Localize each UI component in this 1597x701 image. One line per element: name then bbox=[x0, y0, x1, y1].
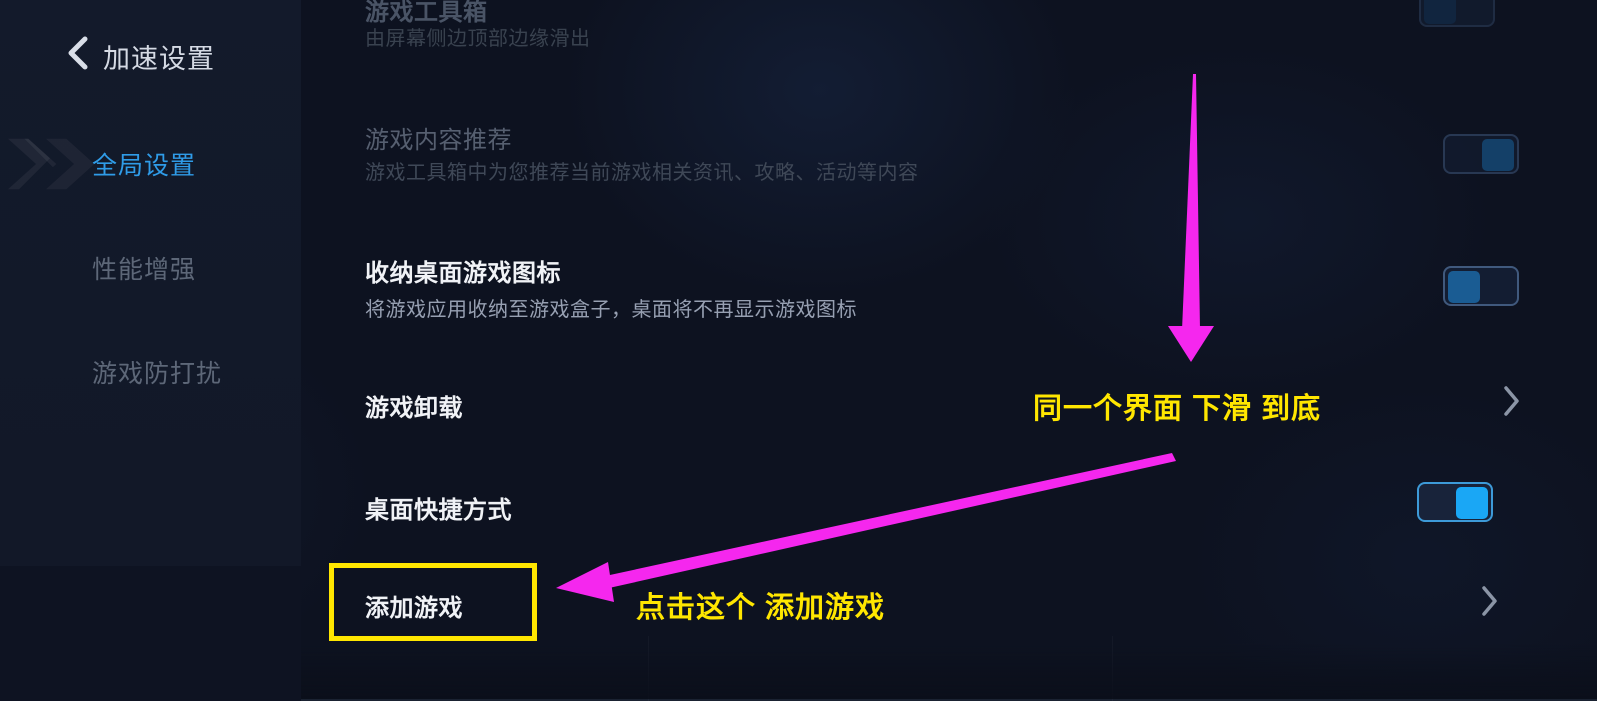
sidebar-item-label: 游戏防打扰 bbox=[92, 354, 222, 390]
toggle-knob bbox=[1448, 271, 1480, 303]
sidebar-item-label: 全局设置 bbox=[92, 146, 196, 182]
sidebar-nav: 全局设置 性能增强 游戏防打扰 bbox=[0, 112, 301, 424]
toggle-hide-desktop-icons[interactable] bbox=[1443, 266, 1519, 306]
annotation-scroll-hint: 同一个界面 下滑 到底 bbox=[1033, 385, 1321, 427]
row-title: 收纳桌面游戏图标 bbox=[365, 253, 561, 288]
toggle-knob bbox=[1456, 487, 1488, 519]
toggle-game-toolbox[interactable] bbox=[1419, 0, 1495, 27]
annotation-highlight-box bbox=[329, 563, 537, 641]
back-button[interactable] bbox=[63, 36, 93, 70]
sidebar-item-label: 性能增强 bbox=[92, 250, 196, 286]
page-title: 加速设置 bbox=[103, 37, 215, 76]
toggle-desktop-shortcut[interactable] bbox=[1417, 482, 1493, 522]
toggle-content-recommend[interactable] bbox=[1443, 134, 1519, 174]
row-title: 游戏卸载 bbox=[365, 388, 463, 423]
sidebar-item-performance-boost[interactable]: 性能增强 bbox=[0, 216, 301, 320]
sidebar-item-do-not-disturb[interactable]: 游戏防打扰 bbox=[0, 320, 301, 424]
game-accel-settings-screen: 加速设置 全局设置 性能增强 游戏防打扰 游戏工具箱 由屏幕侧边顶部边缘滑出 游… bbox=[0, 0, 1597, 701]
toggle-knob bbox=[1482, 139, 1514, 171]
row-subtitle: 游戏工具箱中为您推荐当前游戏相关资讯、攻略、活动等内容 bbox=[365, 156, 919, 185]
sidebar-item-global-settings[interactable]: 全局设置 bbox=[0, 112, 301, 216]
chevron-right-icon[interactable] bbox=[1501, 385, 1527, 421]
row-title: 桌面快捷方式 bbox=[365, 490, 512, 525]
screen-header: 加速设置 bbox=[0, 0, 301, 108]
row-subtitle: 将游戏应用收纳至游戏盒子，桌面将不再显示游戏图标 bbox=[365, 293, 857, 322]
toggle-knob bbox=[1424, 0, 1456, 24]
row-subtitle: 由屏幕侧边顶部边缘滑出 bbox=[365, 22, 591, 51]
sidebar-panel-lower bbox=[0, 566, 301, 701]
chevron-right-icon[interactable] bbox=[1479, 585, 1505, 621]
row-title: 游戏内容推荐 bbox=[365, 120, 512, 155]
annotation-click-hint: 点击这个 添加游戏 bbox=[636, 584, 885, 626]
